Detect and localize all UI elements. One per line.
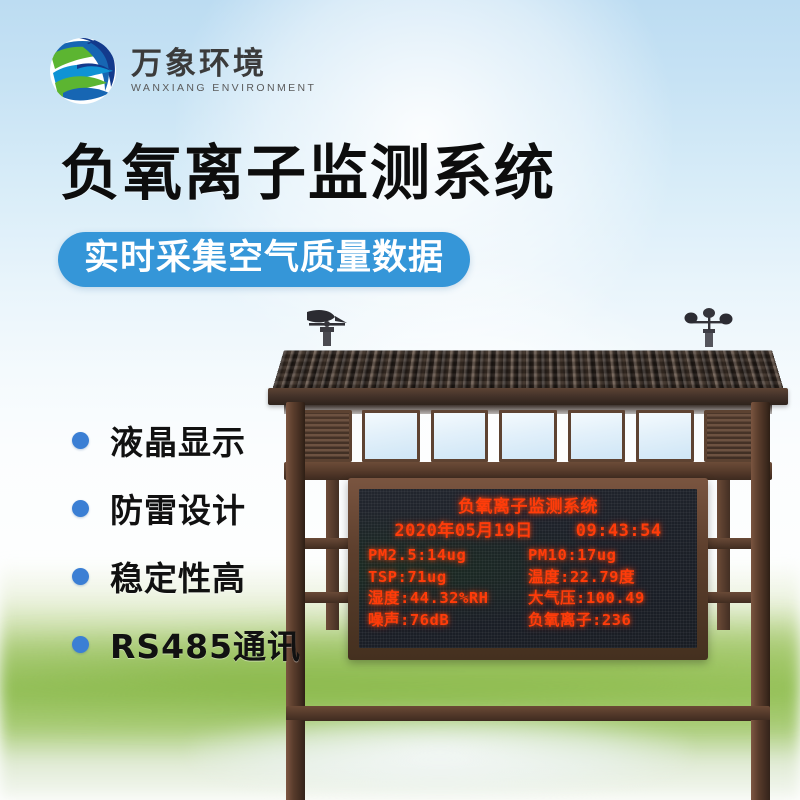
page-title: 负氧离子监测系统: [60, 143, 556, 207]
subtitle-badge: 实时采集空气质量数据: [58, 232, 470, 287]
brand-logo: 万象环境 WANXIANG ENVIRONMENT: [47, 35, 316, 107]
brand-text: 万象环境 WANXIANG ENVIRONMENT: [131, 49, 316, 94]
bullet-dot-icon: [72, 568, 89, 585]
reading-tsp: TSP:71ug: [368, 570, 528, 586]
feature-label: 稳定性高: [110, 552, 246, 600]
roof-eave: [268, 388, 788, 405]
frame-inner-post-right: [717, 480, 730, 630]
anemometer-cup-icon: [681, 308, 737, 348]
table-row: 湿度:44.32%RH 大气压:100.49: [368, 591, 688, 607]
bullet-dot-icon: [72, 636, 89, 653]
list-item: 液晶显示: [72, 406, 301, 474]
feature-list: 液晶显示 防雷设计 稳定性高 RS485通讯: [72, 406, 301, 678]
led-display-screen: 负氧离子监测系统 2020年05月19日 09:43:54 PM2.5:14ug…: [359, 489, 697, 648]
sky-window: [499, 410, 557, 462]
list-item: 防雷设计: [72, 474, 301, 542]
led-readings-grid: PM2.5:14ug PM10:17ug TSP:71ug 温度:22.79度 …: [359, 540, 697, 628]
led-date: 2020年05月19日: [394, 521, 532, 541]
sky-window: [362, 410, 420, 462]
brand-name-en: WANXIANG ENVIRONMENT: [131, 83, 316, 94]
reading-pm10: PM10:17ug: [528, 548, 688, 564]
subtitle-text: 实时采集空气质量数据: [84, 238, 444, 278]
reading-noise: 噪声:76dB: [368, 613, 528, 629]
brand-name-cn: 万象环境: [131, 49, 316, 80]
frame-post-right: [751, 402, 770, 740]
frame-inner-post-left: [326, 480, 339, 630]
wind-vane-icon: [299, 306, 355, 348]
bullet-dot-icon: [72, 432, 89, 449]
bullet-dot-icon: [72, 500, 89, 517]
table-row: PM2.5:14ug PM10:17ug: [368, 548, 688, 564]
base-rail: [286, 706, 770, 721]
reading-temperature: 温度:22.79度: [528, 570, 688, 586]
upper-window-band: [292, 410, 764, 462]
feature-label: 液晶显示: [110, 416, 246, 464]
reading-negative-ion: 负氧离子:236: [528, 613, 688, 629]
wanxiang-globe-logo-icon: [47, 35, 119, 107]
table-row: 噪声:76dB 负氧离子:236: [368, 613, 688, 629]
led-datetime: 2020年05月19日 09:43:54: [359, 516, 697, 540]
list-item: RS485通讯: [72, 610, 301, 678]
led-time: 09:43:54: [576, 521, 662, 541]
reading-humidity: 湿度:44.32%RH: [368, 591, 528, 607]
led-title: 负氧离子监测系统: [359, 489, 697, 516]
led-display-frame: 负氧离子监测系统 2020年05月19日 09:43:54 PM2.5:14ug…: [348, 478, 708, 660]
feature-label: RS485通讯: [110, 620, 301, 668]
feature-label: 防雷设计: [110, 484, 246, 532]
reading-pm25: PM2.5:14ug: [368, 548, 528, 564]
sky-window: [636, 410, 694, 462]
table-row: TSP:71ug 温度:22.79度: [368, 570, 688, 586]
sky-window: [568, 410, 626, 462]
list-item: 稳定性高: [72, 542, 301, 610]
station-leg-left: [286, 720, 305, 800]
window-row: [362, 410, 694, 462]
reading-pressure: 大气压:100.49: [528, 591, 688, 607]
monitoring-station: 负氧离子监测系统 2020年05月19日 09:43:54 PM2.5:14ug…: [268, 306, 788, 736]
sky-window: [431, 410, 489, 462]
station-leg-right: [751, 720, 770, 800]
